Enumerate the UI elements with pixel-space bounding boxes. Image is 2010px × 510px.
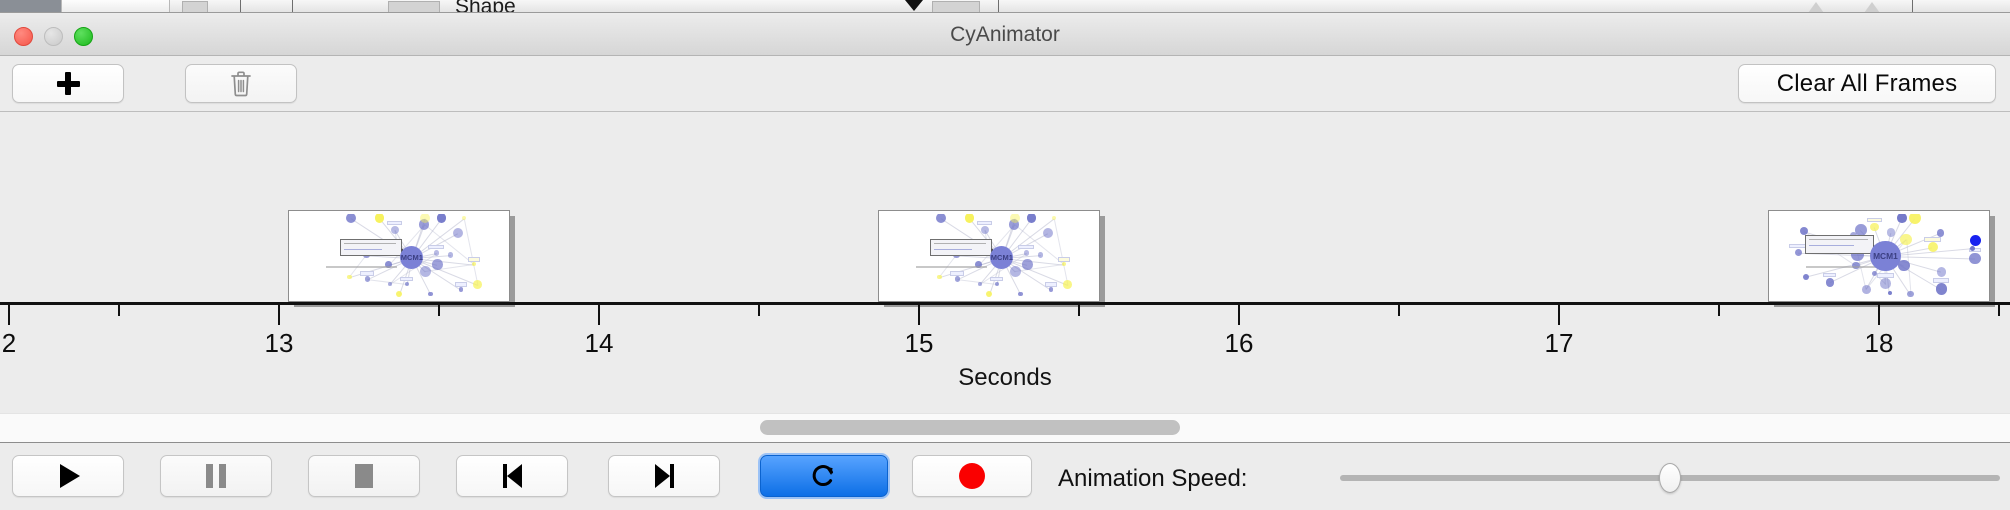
axis-tick-minor — [438, 305, 440, 316]
network-node — [937, 275, 941, 279]
network-node — [995, 282, 1000, 287]
network-node — [375, 214, 384, 223]
clear-all-frames-button[interactable]: Clear All Frames — [1738, 64, 1996, 103]
network-node — [1049, 287, 1054, 292]
timeline-track[interactable]: MCM1 MCM1 MCM1 — [0, 112, 2010, 302]
network-node — [1024, 250, 1030, 256]
network-node — [1038, 252, 1044, 258]
axis-tick-minor — [1078, 305, 1080, 316]
skip-to-end-button[interactable] — [608, 455, 720, 497]
animation-speed-label: Animation Speed: — [1058, 465, 1247, 493]
axis-title: Seconds — [0, 364, 2010, 392]
keyframe-thumbnail[interactable]: MCM1 — [878, 210, 1100, 302]
axis-tick-minor — [1718, 305, 1720, 316]
network-node — [1887, 228, 1895, 236]
stop-icon — [355, 464, 373, 488]
network-tooltip-callout — [930, 239, 992, 256]
network-node-label — [1924, 237, 1941, 241]
axis-tick-minor — [758, 305, 760, 316]
axis-tick-major — [598, 305, 600, 325]
network-node — [428, 292, 433, 297]
network-node — [981, 226, 989, 234]
network-node — [405, 282, 410, 287]
network-node — [437, 214, 446, 223]
bg-divider — [292, 0, 293, 13]
network-node-label — [1018, 245, 1034, 249]
network-node-label — [428, 245, 444, 249]
bg-divider — [1912, 0, 1913, 13]
axis-tick-major — [278, 305, 280, 325]
network-node-label — [1877, 273, 1894, 277]
callout-text-line — [1809, 245, 1854, 246]
network-node — [396, 291, 402, 297]
network-node — [1062, 262, 1066, 266]
skip-forward-icon — [655, 464, 674, 488]
network-node — [391, 226, 399, 234]
network-node — [420, 266, 431, 277]
network-tooltip-callout — [340, 239, 402, 256]
network-node-label — [990, 277, 1003, 281]
network-node — [1803, 274, 1809, 280]
network-edge — [1053, 219, 1068, 286]
close-button[interactable] — [14, 27, 33, 46]
pause-button — [160, 455, 272, 497]
network-hub-label: MCM1 — [1870, 251, 1900, 261]
axis-tick-label: 17 — [1545, 328, 1574, 359]
bg-chip — [932, 1, 980, 13]
scrollbar-thumb[interactable] — [760, 420, 1180, 435]
axis-tick-label: 18 — [1865, 328, 1894, 359]
network-node — [1970, 246, 1975, 251]
network-node-label — [1045, 282, 1057, 286]
network-node-label — [1867, 218, 1882, 222]
network-node — [1969, 253, 1981, 265]
network-node-label — [360, 271, 374, 275]
network-node — [1936, 283, 1948, 295]
bg-pointer-icon — [905, 0, 923, 11]
clear-all-frames-label: Clear All Frames — [1777, 70, 1958, 98]
caption-line — [326, 266, 397, 268]
loop-icon — [811, 463, 837, 489]
network-thumbnail[interactable]: MCM1 — [1768, 210, 1990, 302]
network-canvas: MCM1 — [1772, 214, 1986, 298]
network-node — [1063, 280, 1072, 289]
network-node — [1900, 234, 1912, 246]
minimize-button[interactable] — [44, 27, 63, 46]
delete-frame-button[interactable] — [185, 64, 297, 103]
bg-chip — [388, 1, 440, 13]
axis-tick-major — [918, 305, 920, 325]
network-node — [472, 262, 476, 266]
network-node — [1052, 216, 1057, 221]
network-node — [453, 228, 463, 238]
axis-tick-major — [1558, 305, 1560, 325]
network-node — [1027, 214, 1036, 223]
play-icon — [60, 464, 80, 488]
callout-text-line — [344, 249, 382, 250]
network-node — [1897, 214, 1907, 223]
network-node — [434, 250, 440, 256]
loop-button[interactable] — [760, 455, 888, 497]
maximize-button[interactable] — [74, 27, 93, 46]
callout-text-line — [344, 243, 396, 244]
axis-tick-major — [1238, 305, 1240, 325]
skip-to-start-button[interactable] — [456, 455, 568, 497]
network-edge — [463, 219, 478, 286]
network-node-label — [950, 271, 964, 275]
horizontal-scrollbar[interactable] — [0, 413, 2010, 443]
bg-divider — [998, 0, 999, 13]
caption-line — [1806, 266, 1877, 268]
network-node-label — [977, 221, 992, 225]
network-node-label — [1933, 278, 1949, 282]
network-node-label — [455, 282, 467, 286]
animation-speed-slider-thumb[interactable] — [1659, 463, 1681, 493]
record-button[interactable] — [912, 455, 1032, 497]
network-node — [1870, 223, 1878, 231]
network-thumbnail[interactable]: MCM1 — [288, 210, 510, 302]
skip-back-icon — [503, 464, 522, 488]
caption-line — [916, 266, 987, 268]
axis-tick-label: 14 — [585, 328, 614, 359]
bg-clipped-label: Shape — [455, 0, 516, 13]
network-node — [978, 282, 982, 286]
network-node — [1826, 278, 1835, 287]
add-frame-button[interactable] — [12, 64, 124, 103]
toolbar: Clear All Frames — [0, 56, 2010, 112]
network-node-label — [1058, 257, 1070, 261]
axis-tick-label: 2 — [2, 328, 16, 359]
plus-icon — [56, 71, 81, 96]
network-node — [1909, 214, 1921, 224]
network-canvas: MCM1 — [292, 214, 506, 298]
keyframe-thumbnail[interactable]: MCM1 — [288, 210, 510, 302]
axis-tick-label: 15 — [905, 328, 934, 359]
playback-controls: Animation Speed: — [0, 444, 2010, 510]
pause-icon — [206, 464, 226, 488]
network-node-label — [387, 221, 402, 225]
network-node-highlighted — [1970, 235, 1981, 246]
record-icon — [959, 463, 985, 489]
callout-text-line — [934, 243, 986, 244]
background-window-strip: Shape — [0, 0, 2010, 13]
network-node — [1937, 229, 1945, 237]
network-node — [1043, 228, 1053, 238]
network-node — [1937, 267, 1947, 277]
network-hub-label: MCM1 — [400, 253, 423, 262]
network-node — [1862, 285, 1871, 294]
keyframe-thumbnail[interactable]: MCM1 — [1768, 210, 1990, 302]
window-controls — [14, 27, 93, 46]
network-node — [365, 276, 370, 281]
axis-tick-major — [1878, 305, 1880, 325]
timeline-axis: 2131415161718 Seconds — [0, 302, 2010, 406]
network-node-label — [468, 257, 480, 261]
network-node — [473, 280, 482, 289]
network-node — [1795, 249, 1802, 256]
network-node-label — [1823, 273, 1836, 277]
network-node — [347, 275, 351, 279]
title-bar: CyAnimator — [0, 13, 2010, 56]
axis-tick-major — [8, 305, 10, 325]
axis-line — [0, 302, 2010, 305]
bg-triangle-icon — [1808, 2, 1824, 13]
network-node-label — [400, 277, 413, 281]
callout-text-line — [934, 249, 972, 250]
bg-tab-selected — [0, 0, 62, 13]
window-title: CyAnimator — [0, 13, 2010, 56]
network-node — [388, 282, 392, 286]
bg-triangle-icon — [1864, 2, 1880, 13]
network-canvas: MCM1 — [882, 214, 1096, 298]
network-node — [432, 259, 443, 270]
network-node — [965, 214, 974, 223]
axis-tick-minor — [1998, 305, 2000, 316]
axis-tick-minor — [1398, 305, 1400, 316]
callout-text-line — [1809, 239, 1868, 240]
bg-divider — [240, 0, 241, 13]
bg-tab — [62, 0, 170, 13]
network-node — [459, 287, 464, 292]
stop-button — [308, 455, 420, 497]
network-node — [1022, 259, 1033, 270]
network-node — [1880, 278, 1891, 289]
network-node — [1010, 266, 1021, 277]
network-node — [462, 216, 467, 221]
network-thumbnail[interactable]: MCM1 — [878, 210, 1100, 302]
play-button[interactable] — [12, 455, 124, 497]
bg-chip — [182, 1, 208, 13]
network-hub-label: MCM1 — [990, 253, 1013, 262]
network-node — [1018, 292, 1023, 297]
cyanimator-window: Shape CyAnimator Clear All Frames — [0, 0, 2010, 510]
axis-tick-label: 16 — [1225, 328, 1254, 359]
network-node — [1907, 291, 1914, 298]
network-node — [1888, 291, 1892, 295]
animation-speed-slider[interactable] — [1340, 475, 2000, 481]
network-node — [448, 252, 454, 258]
axis-tick-label: 13 — [265, 328, 294, 359]
network-node — [986, 291, 992, 297]
axis-tick-minor — [118, 305, 120, 316]
network-node — [955, 276, 960, 281]
trash-icon — [229, 70, 253, 97]
